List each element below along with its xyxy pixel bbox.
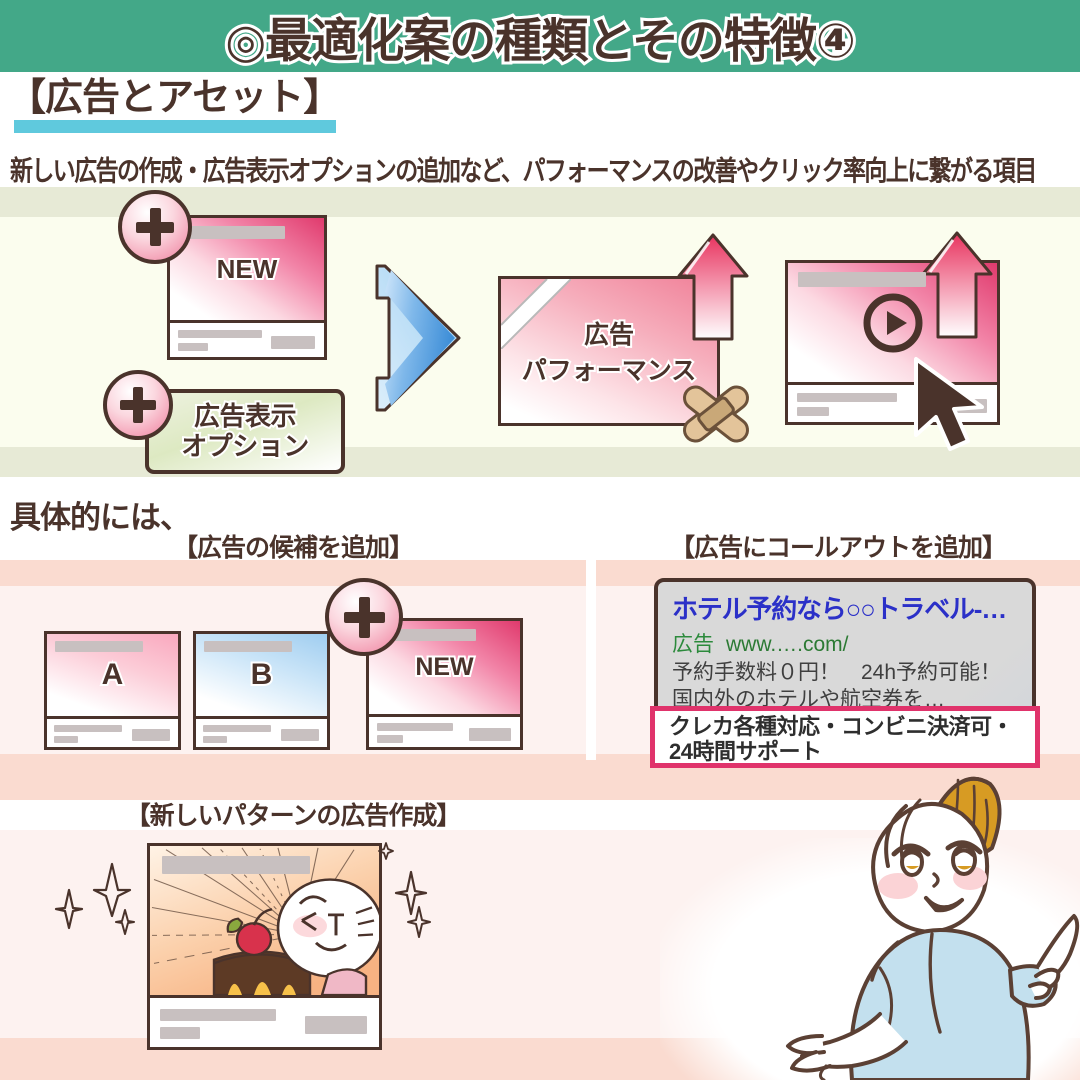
up-arrow-icon <box>920 230 994 340</box>
headline-bar <box>55 641 143 652</box>
up-arrow-icon <box>676 232 750 342</box>
footer-bar-2 <box>203 736 227 743</box>
ad-candidate-new-footer <box>369 714 520 747</box>
footer-bar-1 <box>160 1009 276 1021</box>
ad-callout-line2: 24時間サポート <box>669 740 1035 765</box>
chevron-right-icon <box>375 258 465 418</box>
sparkle-icon <box>54 888 84 930</box>
headline-bar <box>798 272 926 287</box>
sparkle-icon <box>114 908 136 936</box>
footer-cta-bar <box>281 729 319 741</box>
left-panel-heading: 【広告の候補を追加】 <box>0 528 586 564</box>
sparkle-icon <box>406 905 432 939</box>
ad-candidate-b-label: B <box>251 658 273 692</box>
section-title-underline <box>14 120 336 133</box>
new-ad-card-footer <box>170 320 324 357</box>
page-title: ◎最適化案の種類とその特徴④ <box>225 2 854 71</box>
section-title: 【広告とアセット】 <box>8 78 340 120</box>
sparkle-icon <box>378 842 394 860</box>
ad-callout-line1: クレカ各種対応・コンビニ決済可・ <box>669 715 1035 740</box>
footer-bar-2 <box>54 736 78 743</box>
footer-bar-1 <box>203 725 271 732</box>
footer-bar-2 <box>797 407 829 416</box>
ad-candidate-a-label: A <box>102 658 124 692</box>
creative-ad-card <box>147 843 382 1050</box>
ad-callout-box: クレカ各種対応・コンビニ決済可・ 24時間サポート <box>650 706 1040 768</box>
footer-cta-bar <box>132 729 170 741</box>
ad-candidate-new-label: NEW <box>415 653 473 682</box>
footer-bar-2 <box>178 343 208 351</box>
mascot-character <box>640 770 1080 1080</box>
corner-fold-icon <box>501 279 571 349</box>
ad-performance-line1: 広告 <box>584 315 634 351</box>
ad-extension-box: 広告表示 オプション <box>145 389 345 474</box>
footer-bar-2 <box>160 1027 200 1039</box>
creative-ad-footer <box>150 995 379 1047</box>
ad-meta-row: 広告www.….com/ <box>672 628 849 658</box>
headline-bar <box>179 226 285 239</box>
play-icon <box>861 291 925 355</box>
footer-bar-1 <box>178 330 262 338</box>
ad-tag-label: 広告 <box>672 633 714 656</box>
footer-cta-bar <box>469 728 511 741</box>
new-ad-card: NEW <box>167 215 327 360</box>
section-lede: 新しい広告の作成・広告表示オプションの追加など、パフォーマンスの改善やクリック率… <box>10 148 1080 188</box>
ad-candidate-b-footer <box>196 716 327 747</box>
plus-icon <box>103 370 173 440</box>
footer-cta-bar <box>305 1016 367 1034</box>
right-panel-heading: 【広告にコールアウトを追加】 <box>596 528 1080 564</box>
cursor-arrow-icon <box>908 355 994 455</box>
ad-candidate-b-image: B <box>196 634 327 716</box>
plus-stroke <box>359 597 370 638</box>
ad-candidate-card-a: A <box>44 631 181 750</box>
plus-stroke <box>133 387 143 423</box>
new-ad-card-image: NEW <box>170 218 324 320</box>
ad-candidate-card-b: B <box>193 631 330 750</box>
ad-candidate-a-image: A <box>47 634 178 716</box>
creative-ad-image <box>150 846 379 995</box>
ad-extension-line1: 広告表示 <box>194 402 296 431</box>
footer-bar-1 <box>54 725 122 732</box>
ad-extension-line2: オプション <box>181 432 309 461</box>
ad-headline: ホテル予約なら○○トラベル-… <box>672 589 1006 626</box>
section-title-group: 【広告とアセット】 <box>8 78 340 120</box>
footer-bar-1 <box>797 393 897 402</box>
panel-band-top <box>0 560 586 586</box>
footer-cta-bar <box>271 336 315 349</box>
plus-icon <box>325 578 403 656</box>
headline-bar <box>162 856 310 874</box>
new-ad-card-label: NEW <box>217 254 278 285</box>
ad-candidate-a-footer <box>47 716 178 747</box>
ad-url: www.….com/ <box>726 633 849 656</box>
page-header: ◎最適化案の種類とその特徴④ <box>0 0 1080 72</box>
ad-performance-line2: パフォーマンス <box>522 351 697 387</box>
plus-stroke <box>150 208 161 246</box>
bandage-icon <box>673 372 759 456</box>
plus-icon <box>118 190 192 264</box>
bottom-panel-heading: 【新しいパターンの広告作成】 <box>0 796 586 832</box>
headline-bar <box>204 641 292 652</box>
footer-bar-1 <box>377 723 453 731</box>
footer-bar-2 <box>377 735 403 743</box>
infographic-page: ◎最適化案の種類とその特徴④ 【広告とアセット】 新しい広告の作成・広告表示オプ… <box>0 0 1080 1080</box>
ad-description-line1: 予約手数料０円！ 24h予約可能！ <box>672 656 1001 686</box>
